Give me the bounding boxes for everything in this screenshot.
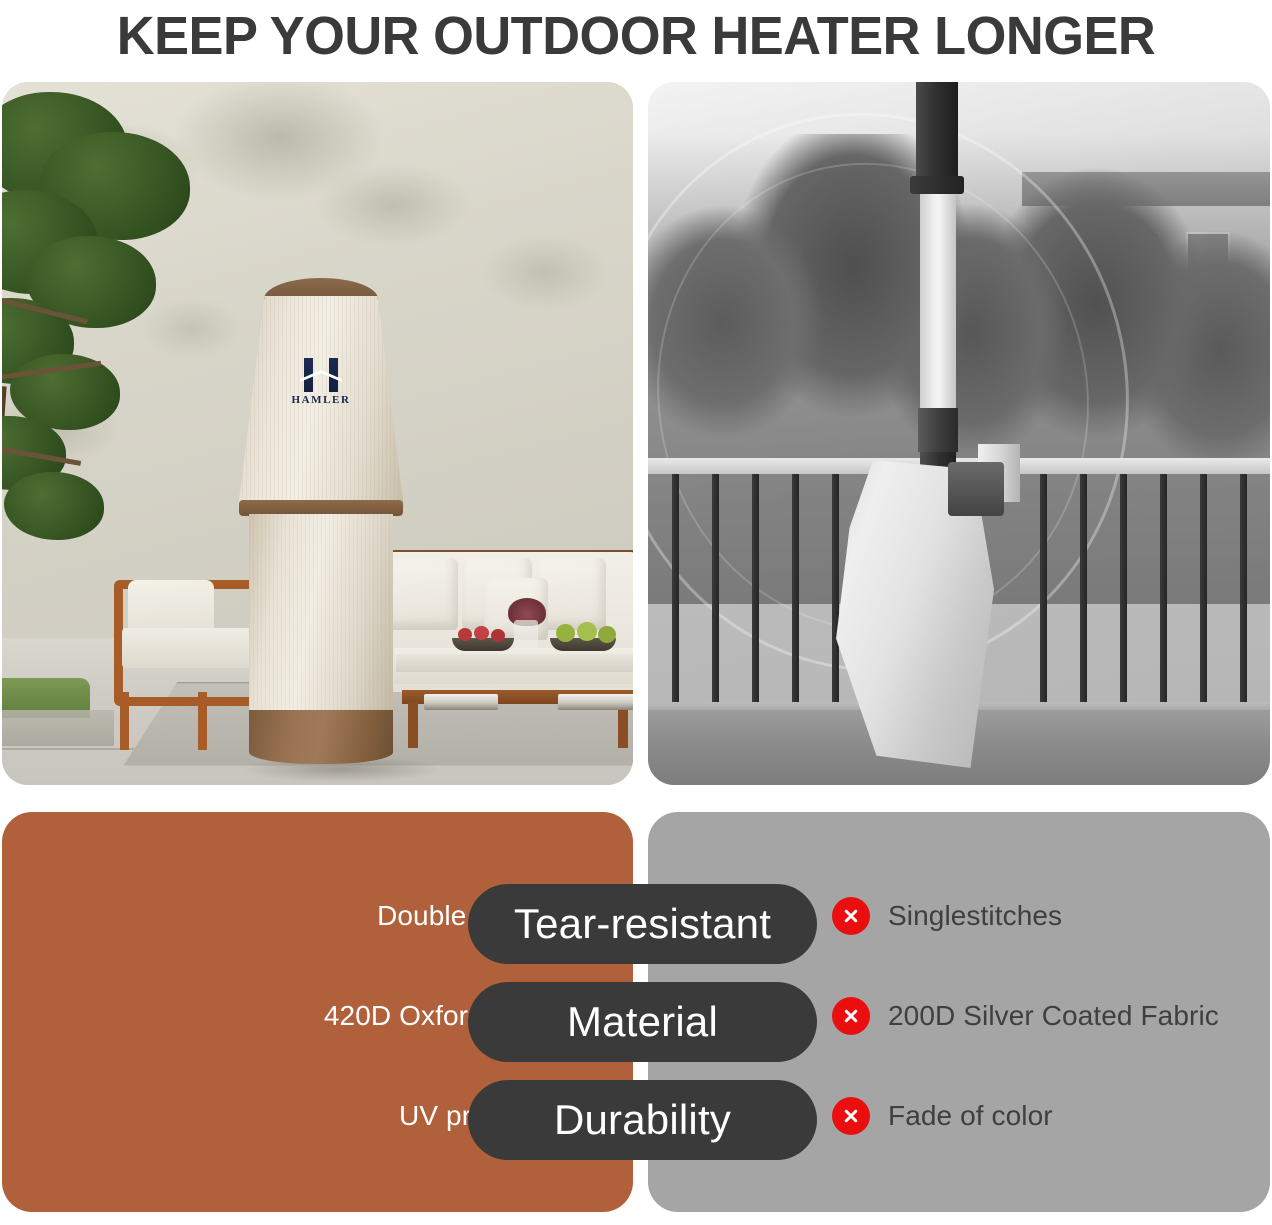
x-circle-icon [832,997,870,1035]
brand-name: HAMLER [290,394,352,406]
rail-baluster [1120,474,1127,704]
heater-pole-upper [920,194,956,408]
coffee-table-top [396,654,633,672]
stacked-books [558,694,633,710]
lounge-chair-leg [198,692,207,750]
strawberry [474,626,489,640]
comparison-row-bad-0: Singlestitches [832,890,1062,942]
green-apple [556,624,575,642]
bad-feature-label: Fade of color [888,1100,1053,1132]
green-apple [577,622,597,641]
feature-pill-1: Material [468,982,817,1062]
rail-baluster [752,474,759,704]
cover-lower-band [249,710,393,764]
hamler-h-monogram-icon [300,358,342,392]
rail-baluster [1240,474,1247,704]
green-apple [598,626,616,643]
comparison-row-bad-1: 200D Silver Coated Fabric [832,990,1219,1042]
feature-pill-2: Durability [468,1080,817,1160]
bad-feature-label: Singlestitches [888,900,1062,932]
foliage-clump [4,472,104,540]
strawberry [458,628,472,641]
photo-competitor-cover-on-deck [648,82,1270,785]
photo-patio-heater-cover-installed: HAMLER [2,82,633,785]
bad-feature-label: 200D Silver Coated Fabric [888,1000,1219,1032]
x-circle-icon [832,1097,870,1135]
cover-mounting-clip [948,462,1004,516]
page-title: KEEP YOUR OUTDOOR HEATER LONGER [19,0,1253,72]
hamler-heater-cover: HAMLER [238,278,404,785]
hamler-logo: HAMLER [290,358,352,406]
lounge-chair-leg [120,692,129,750]
stacked-books [424,694,498,710]
heater-pole-collar [918,408,958,452]
rail-baluster [1080,474,1087,704]
rail-baluster [1160,474,1167,704]
rail-baluster [712,474,719,704]
strawberry [491,629,505,642]
coffee-table-leg [408,702,418,748]
x-circle-icon [832,897,870,935]
pine-tree [2,86,224,566]
heater-head [916,82,958,178]
gravel-border [2,710,114,746]
rail-baluster [672,474,679,704]
product-infographic: KEEP YOUR OUTDOOR HEATER LONGER [0,0,1272,1225]
feature-pill-0: Tear-resistant [468,884,817,964]
comparison-row-bad-2: Fade of color [832,1090,1053,1142]
glass-vase [514,620,538,650]
rail-baluster [792,474,799,704]
rail-baluster [1040,474,1047,704]
cover-body-texture [249,514,393,714]
rail-baluster [832,474,839,704]
heater-pole-joint [910,176,964,194]
rail-baluster [1200,474,1207,704]
